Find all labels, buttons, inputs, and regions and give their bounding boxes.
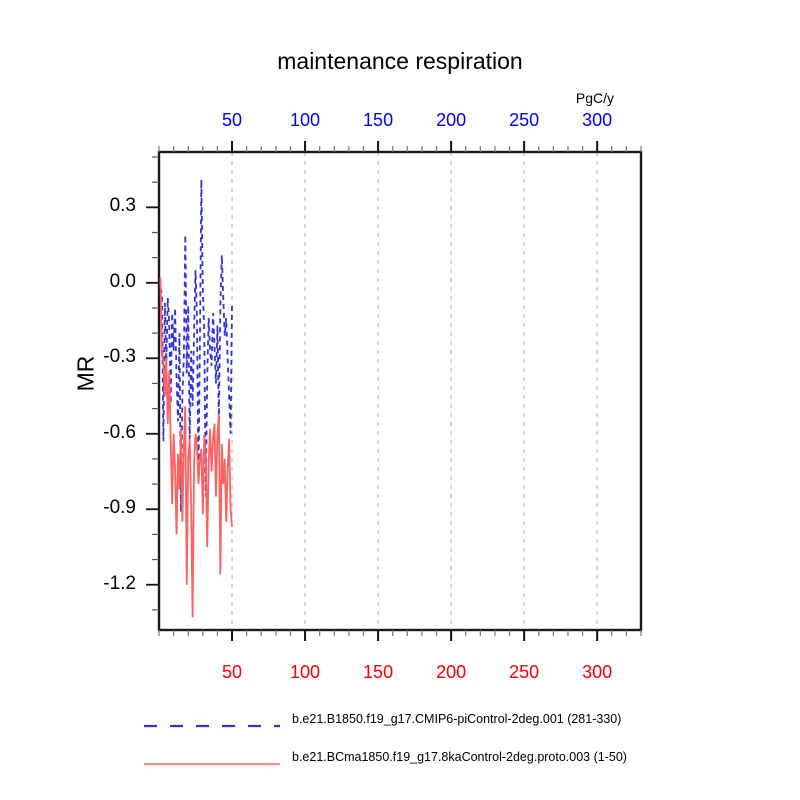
bottom-axis-tick-label: 250 xyxy=(484,662,564,683)
bottom-axis-tick-label: 300 xyxy=(557,662,637,683)
bottom-axis-tick-label: 200 xyxy=(411,662,491,683)
top-axis-tick-label: 200 xyxy=(411,110,491,131)
legend-entry-2[interactable]: b.e21.BCma1850.f19_g17.8kaControl-2deg.p… xyxy=(0,756,800,776)
y-axis-tick-label: -0.9 xyxy=(40,497,136,519)
legend-swatch-solid xyxy=(142,757,282,771)
top-axis-tick-label: 150 xyxy=(338,110,418,131)
top-axis-tick-label: 300 xyxy=(557,110,637,131)
top-axis-tick-label: 50 xyxy=(192,110,272,131)
top-axis-tick-label: 250 xyxy=(484,110,564,131)
bottom-axis-tick-label: 50 xyxy=(192,662,272,683)
legend-entry-1[interactable]: b.e21.B1850.f19_g17.CMIP6-piControl-2deg… xyxy=(0,718,800,738)
chart-figure: maintenance respiration PgC/y MR 5010015… xyxy=(0,0,800,800)
legend-label: b.e21.BCma1850.f19_g17.8kaControl-2deg.p… xyxy=(292,750,627,764)
legend-swatch-dashed xyxy=(142,719,282,733)
y-axis-tick-label: 0.0 xyxy=(40,271,136,293)
bottom-axis-tick-label: 100 xyxy=(265,662,345,683)
bottom-axis-tick-label: 150 xyxy=(338,662,418,683)
y-axis-tick-label: -0.6 xyxy=(40,422,136,444)
units-label: PgC/y xyxy=(576,90,614,106)
page-title: maintenance respiration xyxy=(0,48,800,75)
y-axis-tick-label: -1.2 xyxy=(40,573,136,595)
legend-label: b.e21.B1850.f19_g17.CMIP6-piControl-2deg… xyxy=(292,712,621,726)
top-axis-tick-label: 100 xyxy=(265,110,345,131)
y-axis-tick-label: -0.3 xyxy=(40,346,136,368)
y-axis-tick-label: 0.3 xyxy=(40,195,136,217)
